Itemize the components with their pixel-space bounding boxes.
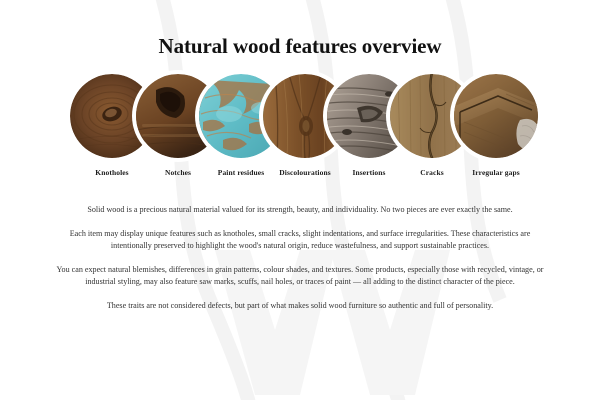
feature-circle-irregular-gaps — [454, 74, 538, 158]
body-paragraph-3: You can expect natural blemishes, differ… — [50, 264, 550, 289]
feature-label-notches: Notches — [165, 168, 191, 177]
wood-irregular-gap-swatch-icon — [454, 74, 538, 158]
body-paragraph-2: Each item may display unique features su… — [50, 228, 550, 253]
feature-circles-strip — [0, 74, 600, 164]
feature-label-irregular-gaps: Irregular gaps — [472, 168, 520, 177]
body-copy: Solid wood is a precious natural materia… — [40, 204, 560, 312]
feature-label-cracks: Cracks — [420, 168, 444, 177]
feature-label-insertions: Insertions — [352, 168, 385, 177]
page-title: Natural wood features overview — [0, 0, 600, 59]
body-paragraph-1: Solid wood is a precious natural materia… — [40, 204, 560, 217]
feature-label-knotholes: Knotholes — [95, 168, 128, 177]
feature-label-discolourations: Discolourations — [279, 168, 331, 177]
body-paragraph-4: These traits are not considered defects,… — [40, 300, 560, 313]
feature-label-paint-residues: Paint residues — [218, 168, 264, 177]
feature-labels-row: Knotholes Notches Paint residues Discolo… — [0, 168, 600, 188]
infographic-page: Natural wood features overview — [0, 0, 600, 400]
